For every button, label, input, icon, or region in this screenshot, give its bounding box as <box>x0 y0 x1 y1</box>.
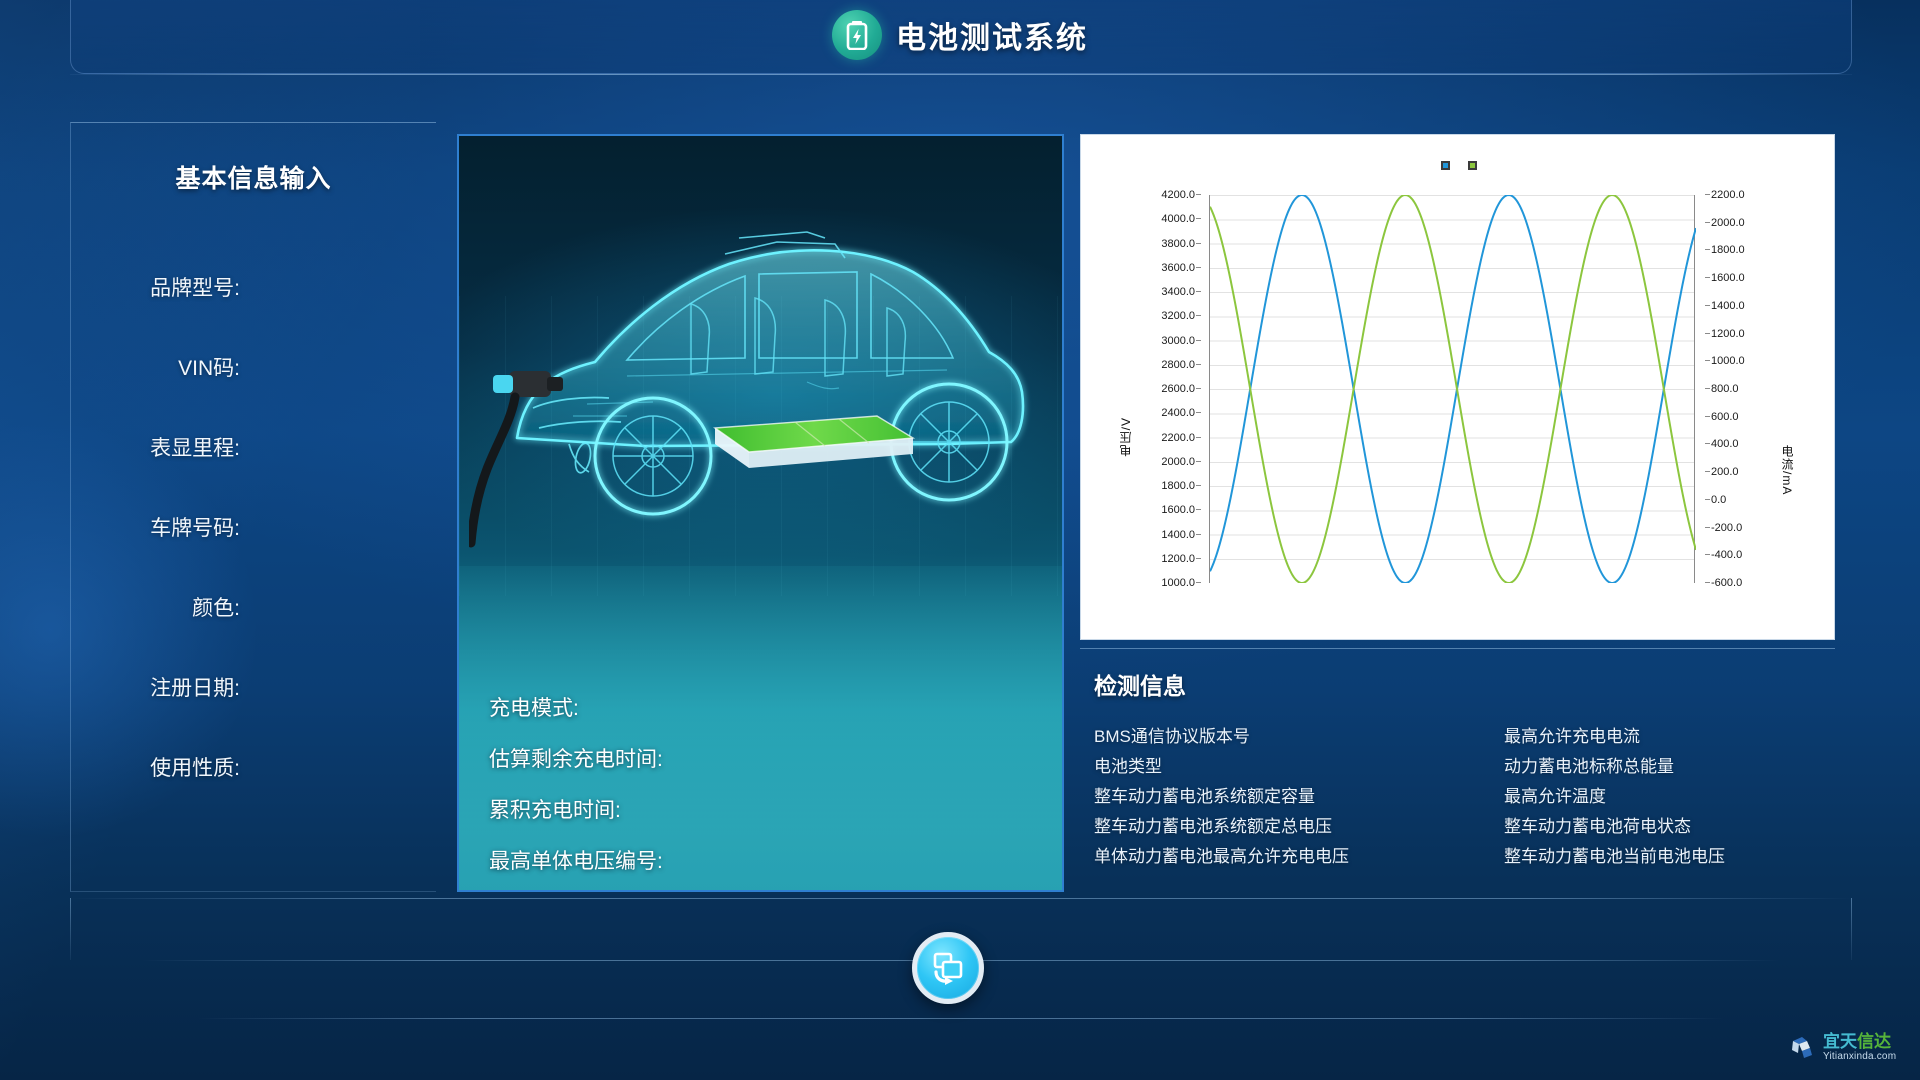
windows-refresh-icon <box>928 948 968 988</box>
axis-tick-label: 400.0 <box>1711 438 1739 450</box>
center-field-remaining-time[interactable]: 估算剩余充电时间: <box>489 732 1049 783</box>
chart-legend <box>1081 161 1836 170</box>
basic-info-sidebar: 基本信息输入 品牌型号: VIN码: 表显里程: 车牌号码: 颜色: 注册日期:… <box>70 122 436 892</box>
detect-item-battery-type[interactable]: 电池类型 <box>1094 749 1504 779</box>
axis-tick-label: 4200.0 <box>1161 189 1195 201</box>
axis-tick-label: -600.0 <box>1711 577 1742 589</box>
refresh-duplicate-button[interactable] <box>912 932 984 1004</box>
axis-tick-label: 1400.0 <box>1161 529 1195 541</box>
detect-item-current-battery-voltage[interactable]: 整车动力蓄电池当前电池电压 <box>1504 839 1835 869</box>
page-title: 电池测试系统 <box>896 13 1088 57</box>
axis-tick-label: 1600.0 <box>1161 504 1195 516</box>
center-field-label-charge-mode: 充电模式: <box>489 692 579 722</box>
axis-tick-label: 3600.0 <box>1161 262 1195 274</box>
axis-tick-label: 1600.0 <box>1711 272 1745 284</box>
axis-tick-label: 1200.0 <box>1711 328 1745 340</box>
voltage-current-chart: 4200.04000.03800.03600.03400.03200.03000… <box>1080 134 1835 640</box>
field-row-mileage[interactable]: 表显里程: <box>71 407 436 487</box>
axis-tick-label: 1000.0 <box>1711 355 1745 367</box>
watermark-char-4: 达 <box>1874 1032 1891 1051</box>
axis-tick-label: 2600.0 <box>1161 383 1195 395</box>
axis-tick-label: 1800.0 <box>1711 244 1745 256</box>
detect-item-max-cell-charge-voltage[interactable]: 单体动力蓄电池最高允许充电电压 <box>1094 839 1504 869</box>
detect-item-max-temperature[interactable]: 最高允许温度 <box>1504 779 1835 809</box>
field-label-vin: VIN码: <box>178 352 240 382</box>
chart-y-axis-left-ticks: 4200.04000.03800.03600.03400.03200.03000… <box>1139 195 1205 583</box>
axis-tick-label: 3800.0 <box>1161 238 1195 250</box>
axis-tick-label: 1800.0 <box>1161 480 1195 492</box>
detection-info-section: 检测信息 BMS通信协议版本号 最高允许充电电流 电池类型 动力蓄电池标称总能量… <box>1080 648 1835 892</box>
field-label-plate-number: 车牌号码: <box>150 512 240 542</box>
field-row-register-date[interactable]: 注册日期: <box>71 647 436 727</box>
field-label-mileage: 表显里程: <box>150 432 240 462</box>
chart-plot-area <box>1209 195 1695 583</box>
detection-info-grid: BMS通信协议版本号 最高允许充电电流 电池类型 动力蓄电池标称总能量 整车动力… <box>1094 719 1835 869</box>
watermark-logo-icon <box>1788 1032 1818 1062</box>
field-label-register-date: 注册日期: <box>150 672 240 702</box>
watermark-en-text: Yitianxinda.com <box>1823 1052 1896 1062</box>
axis-tick-label: 1200.0 <box>1161 553 1195 565</box>
detect-item-bms-protocol[interactable]: BMS通信协议版本号 <box>1094 719 1504 749</box>
field-row-color[interactable]: 颜色: <box>71 567 436 647</box>
field-row-brand-model[interactable]: 品牌型号: <box>71 247 436 327</box>
axis-tick-label: 600.0 <box>1711 411 1739 423</box>
axis-tick-label: -200.0 <box>1711 522 1742 534</box>
axis-tick-label: 2000.0 <box>1161 456 1195 468</box>
axis-tick-label: 2200.0 <box>1161 432 1195 444</box>
chart-y-axis-left-label: 电压/V <box>1117 417 1134 456</box>
axis-tick-label: 1400.0 <box>1711 300 1745 312</box>
axis-tick-label: 2200.0 <box>1711 189 1745 201</box>
watermark-cn-text: 宜天信达 <box>1823 1033 1896 1050</box>
axis-tick-label: 4000.0 <box>1161 213 1195 225</box>
axis-tick-label: 1000.0 <box>1161 577 1195 589</box>
chart-y-axis-right-ticks: 2200.02000.01800.01600.01400.01200.01000… <box>1701 195 1767 583</box>
chart-line-voltage <box>1210 195 1696 583</box>
field-label-color: 颜色: <box>192 592 240 622</box>
detect-item-rated-total-voltage[interactable]: 整车动力蓄电池系统额定总电压 <box>1094 809 1504 839</box>
center-field-label-max-cell-voltage-no: 最高单体电压编号: <box>489 845 663 875</box>
chart-series-paths <box>1210 195 1696 583</box>
center-field-charge-mode[interactable]: 充电模式: <box>489 681 1049 732</box>
header-underline <box>70 74 1852 75</box>
center-field-label-total-charge-time: 累积充电时间: <box>489 794 621 824</box>
field-row-usage-type[interactable]: 使用性质: <box>71 727 436 807</box>
detect-item-soc[interactable]: 整车动力蓄电池荷电状态 <box>1504 809 1835 839</box>
watermark-char-2: 天 <box>1840 1032 1857 1051</box>
axis-tick-label: 200.0 <box>1711 466 1739 478</box>
sidebar-title: 基本信息输入 <box>71 159 436 195</box>
field-row-vin[interactable]: VIN码: <box>71 327 436 407</box>
watermark: 宜天信达 Yitianxinda.com <box>1788 1032 1896 1062</box>
center-field-max-cell-voltage-no[interactable]: 最高单体电压编号: <box>489 834 1049 885</box>
charging-cable-icon <box>469 361 599 561</box>
app-header: 电池测试系统 <box>0 10 1920 60</box>
legend-chip-voltage[interactable] <box>1441 161 1450 170</box>
axis-tick-label: 3000.0 <box>1161 335 1195 347</box>
detect-item-max-charge-current[interactable]: 最高允许充电电流 <box>1504 719 1835 749</box>
axis-tick-label: 800.0 <box>1711 383 1739 395</box>
watermark-char-3: 信 <box>1857 1032 1874 1051</box>
charging-field-list: 充电模式: 估算剩余充电时间: 累积充电时间: 最高单体电压编号: 最高温度检测… <box>489 681 1049 892</box>
watermark-char-1: 宜 <box>1823 1032 1840 1051</box>
legend-chip-current[interactable] <box>1468 161 1477 170</box>
axis-tick-label: -400.0 <box>1711 549 1742 561</box>
axis-tick-label: 2400.0 <box>1161 407 1195 419</box>
vehicle-charging-panel: 充电模式: 估算剩余充电时间: 累积充电时间: 最高单体电压编号: 最高温度检测… <box>457 134 1064 892</box>
field-label-brand-model: 品牌型号: <box>150 272 240 302</box>
chart-line-current <box>1210 195 1696 583</box>
field-label-usage-type: 使用性质: <box>150 752 240 782</box>
axis-tick-label: 3400.0 <box>1161 286 1195 298</box>
detect-item-rated-capacity[interactable]: 整车动力蓄电池系统额定容量 <box>1094 779 1504 809</box>
center-field-total-charge-time[interactable]: 累积充电时间: <box>489 783 1049 834</box>
detection-info-title: 检测信息 <box>1094 667 1835 701</box>
chart-y-axis-right-label: 电流/mA <box>1779 445 1796 495</box>
battery-bolt-icon <box>832 10 882 60</box>
axis-tick-label: 0.0 <box>1711 494 1726 506</box>
axis-tick-label: 3200.0 <box>1161 310 1195 322</box>
detect-item-nominal-energy[interactable]: 动力蓄电池标称总能量 <box>1504 749 1835 779</box>
field-row-plate-number[interactable]: 车牌号码: <box>71 487 436 567</box>
battery-test-system-page: 电池测试系统 基本信息输入 品牌型号: VIN码: 表显里程: 车牌号码: 颜色… <box>0 0 1920 1080</box>
axis-tick-label: 2800.0 <box>1161 359 1195 371</box>
center-field-label-remaining-time: 估算剩余充电时间: <box>489 743 663 773</box>
axis-tick-label: 2000.0 <box>1711 217 1745 229</box>
center-field-max-temp-point-no[interactable]: 最高温度检测点编号: <box>489 885 1049 892</box>
basic-info-field-list: 品牌型号: VIN码: 表显里程: 车牌号码: 颜色: 注册日期: 使用性质: <box>71 247 436 807</box>
